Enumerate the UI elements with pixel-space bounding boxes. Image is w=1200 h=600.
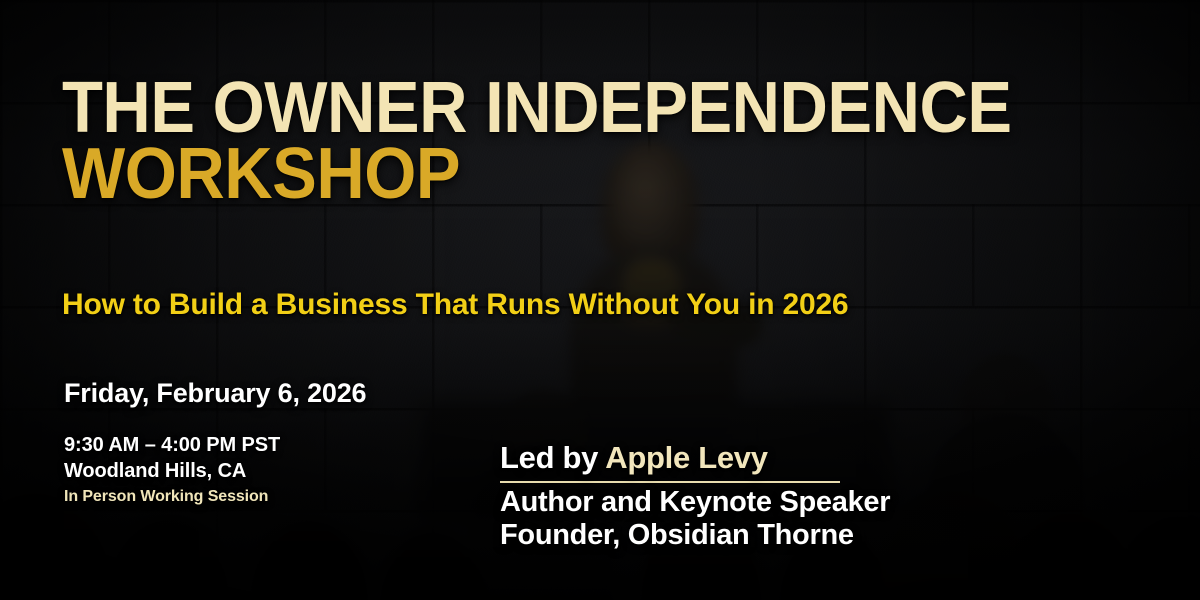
speaker-led-by-line: Led by Apple Levy	[500, 440, 890, 476]
event-title-line-1: THE OWNER INDEPENDENCE	[62, 78, 1012, 140]
speaker-role-line-2: Founder, Obsidian Thorne	[500, 519, 890, 552]
speaker-led-by-prefix: Led by	[500, 440, 605, 475]
speaker-name: Apple Levy	[605, 440, 767, 475]
event-banner: THE OWNER INDEPENDENCE WORKSHOP How to B…	[0, 0, 1200, 600]
speaker-role-line-1: Author and Keynote Speaker	[500, 486, 890, 519]
event-details-block: 9:30 AM – 4:00 PM PST Woodland Hills, CA…	[64, 432, 280, 508]
event-title-line-2: WORKSHOP	[62, 144, 1012, 206]
banner-content: THE OWNER INDEPENDENCE WORKSHOP How to B…	[0, 0, 1200, 600]
event-location: Woodland Hills, CA	[64, 458, 280, 484]
event-time: 9:30 AM – 4:00 PM PST	[64, 432, 280, 458]
speaker-block: Led by Apple Levy Author and Keynote Spe…	[500, 440, 890, 552]
event-subtitle: How to Build a Business That Runs Withou…	[62, 288, 848, 322]
event-date: Friday, February 6, 2026	[64, 378, 366, 409]
event-title: THE OWNER INDEPENDENCE WORKSHOP	[62, 78, 1083, 206]
event-format-note: In Person Working Session	[64, 487, 280, 508]
speaker-underline-rule	[500, 481, 840, 483]
